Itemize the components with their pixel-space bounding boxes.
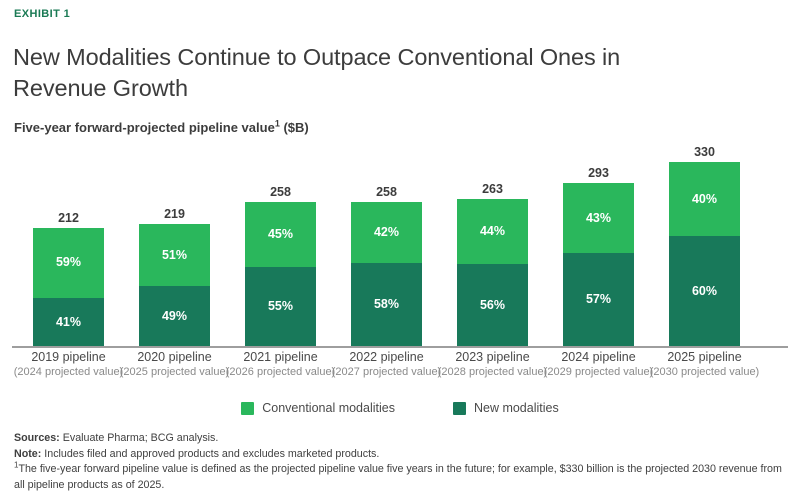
chart-legend: Conventional modalitiesNew modalities <box>0 401 800 415</box>
bar-total-label: 219 <box>139 207 210 224</box>
bar-segment-new[interactable]: 57% <box>563 253 634 346</box>
x-axis-label: 2021 pipeline(2026 projected value) <box>222 350 340 379</box>
x-axis-label: 2022 pipeline(2027 projected value) <box>328 350 446 379</box>
bar-segment-new[interactable]: 55% <box>245 267 316 346</box>
footnote-note-value: Includes filed and approved products and… <box>41 448 379 460</box>
footnotes: Sources: Evaluate Pharma; BCG analysis. … <box>14 431 789 493</box>
bar-segment-new[interactable]: 58% <box>351 263 422 346</box>
x-axis-label-main: 2019 pipeline <box>10 350 128 366</box>
x-axis-label: 2024 pipeline(2029 projected value) <box>540 350 658 379</box>
legend-item[interactable]: Conventional modalities <box>241 401 395 415</box>
x-axis-label-main: 2023 pipeline <box>434 350 552 366</box>
bar-segment-conventional[interactable]: 59% <box>33 228 104 298</box>
bar-segment-new[interactable]: 60% <box>669 236 740 346</box>
bar-total-label: 258 <box>245 185 316 202</box>
x-axis-label-sub: (2024 projected value) <box>10 366 128 380</box>
legend-swatch-icon <box>453 402 466 415</box>
bar-segment-conventional[interactable]: 44% <box>457 199 528 264</box>
bar-segment-label: 49% <box>162 310 187 323</box>
bar-segment-label: 44% <box>480 225 505 238</box>
bar-group[interactable]: 26344%56% <box>457 199 528 346</box>
x-axis-label: 2025 pipeline(2030 projected value) <box>646 350 764 379</box>
bar-segment-label: 56% <box>480 299 505 312</box>
bar-segment-label: 58% <box>374 298 399 311</box>
bar-group[interactable]: 25845%55% <box>245 202 316 346</box>
bar-total-label: 263 <box>457 182 528 199</box>
bar-total-label: 258 <box>351 185 422 202</box>
bar-segment-label: 42% <box>374 226 399 239</box>
bar-segment-conventional[interactable]: 45% <box>245 202 316 267</box>
chart-subtitle-text: Five-year forward-projected pipeline val… <box>14 120 275 135</box>
footnote-note: Note: Includes filed and approved produc… <box>14 447 789 463</box>
x-axis-label-sub: (2025 projected value) <box>116 366 234 380</box>
x-axis-label-sub: (2030 projected value) <box>646 366 764 380</box>
x-axis-label-main: 2024 pipeline <box>540 350 658 366</box>
bar-group[interactable]: 25842%58% <box>351 202 422 346</box>
footnote-sources: Sources: Evaluate Pharma; BCG analysis. <box>14 431 789 447</box>
bar-segment-label: 60% <box>692 285 717 298</box>
legend-item[interactable]: New modalities <box>453 401 559 415</box>
x-axis-label-main: 2025 pipeline <box>646 350 764 366</box>
bar-segment-conventional[interactable]: 43% <box>563 183 634 253</box>
exhibit-label: EXHIBIT 1 <box>14 8 70 20</box>
x-axis-label-main: 2020 pipeline <box>116 350 234 366</box>
bar-group[interactable]: 33040%60% <box>669 162 740 346</box>
bar-group[interactable]: 21259%41% <box>33 228 104 346</box>
x-axis-label: 2023 pipeline(2028 projected value) <box>434 350 552 379</box>
bar-segment-label: 55% <box>268 300 293 313</box>
x-axis-label-sub: (2026 projected value) <box>222 366 340 380</box>
bar-group[interactable]: 21951%49% <box>139 224 210 346</box>
exhibit-page: EXHIBIT 1 New Modalities Continue to Out… <box>0 0 800 494</box>
x-axis-label: 2020 pipeline(2025 projected value) <box>116 350 234 379</box>
bar-segment-new[interactable]: 49% <box>139 286 210 346</box>
footnote-sources-key: Sources: <box>14 432 60 444</box>
bar-group[interactable]: 29343%57% <box>563 183 634 346</box>
bar-total-label: 212 <box>33 211 104 228</box>
bar-segment-new[interactable]: 56% <box>457 264 528 346</box>
bar-segment-label: 57% <box>586 293 611 306</box>
bar-segment-label: 45% <box>268 228 293 241</box>
x-axis-label-main: 2022 pipeline <box>328 350 446 366</box>
footnote-sources-value: Evaluate Pharma; BCG analysis. <box>60 432 219 444</box>
bar-segment-label: 43% <box>586 212 611 225</box>
x-axis-label-sub: (2028 projected value) <box>434 366 552 380</box>
stacked-bar-chart: 21259%41%21951%49%25845%55%25842%58%2634… <box>0 140 800 350</box>
x-axis-label-sub: (2029 projected value) <box>540 366 658 380</box>
bar-segment-label: 51% <box>162 249 187 262</box>
footnote-one-text: The five-year forward pipeline value is … <box>14 463 782 491</box>
x-axis-label-main: 2021 pipeline <box>222 350 340 366</box>
bar-total-label: 293 <box>563 166 634 183</box>
x-axis-line <box>12 346 788 348</box>
bar-segment-new[interactable]: 41% <box>33 298 104 346</box>
legend-swatch-icon <box>241 402 254 415</box>
bar-segment-label: 59% <box>56 256 81 269</box>
legend-label: Conventional modalities <box>262 401 395 415</box>
bar-total-label: 330 <box>669 145 740 162</box>
chart-subtitle: Five-year forward-projected pipeline val… <box>14 120 309 135</box>
bar-segment-conventional[interactable]: 42% <box>351 202 422 262</box>
footnote-note-key: Note: <box>14 448 41 460</box>
legend-label: New modalities <box>474 401 559 415</box>
x-axis-label-sub: (2027 projected value) <box>328 366 446 380</box>
bar-segment-conventional[interactable]: 51% <box>139 224 210 286</box>
bar-segment-label: 40% <box>692 193 717 206</box>
chart-plot-area: 21259%41%21951%49%25845%55%25842%58%2634… <box>0 140 800 347</box>
x-axis-labels: 2019 pipeline(2024 projected value)2020 … <box>0 350 800 390</box>
x-axis-label: 2019 pipeline(2024 projected value) <box>10 350 128 379</box>
bar-segment-label: 41% <box>56 316 81 329</box>
bar-segment-conventional[interactable]: 40% <box>669 162 740 236</box>
page-title: New Modalities Continue to Outpace Conve… <box>13 42 713 104</box>
footnote-one: 1The five-year forward pipeline value is… <box>14 462 789 493</box>
chart-subtitle-unit: ($B) <box>280 120 309 135</box>
